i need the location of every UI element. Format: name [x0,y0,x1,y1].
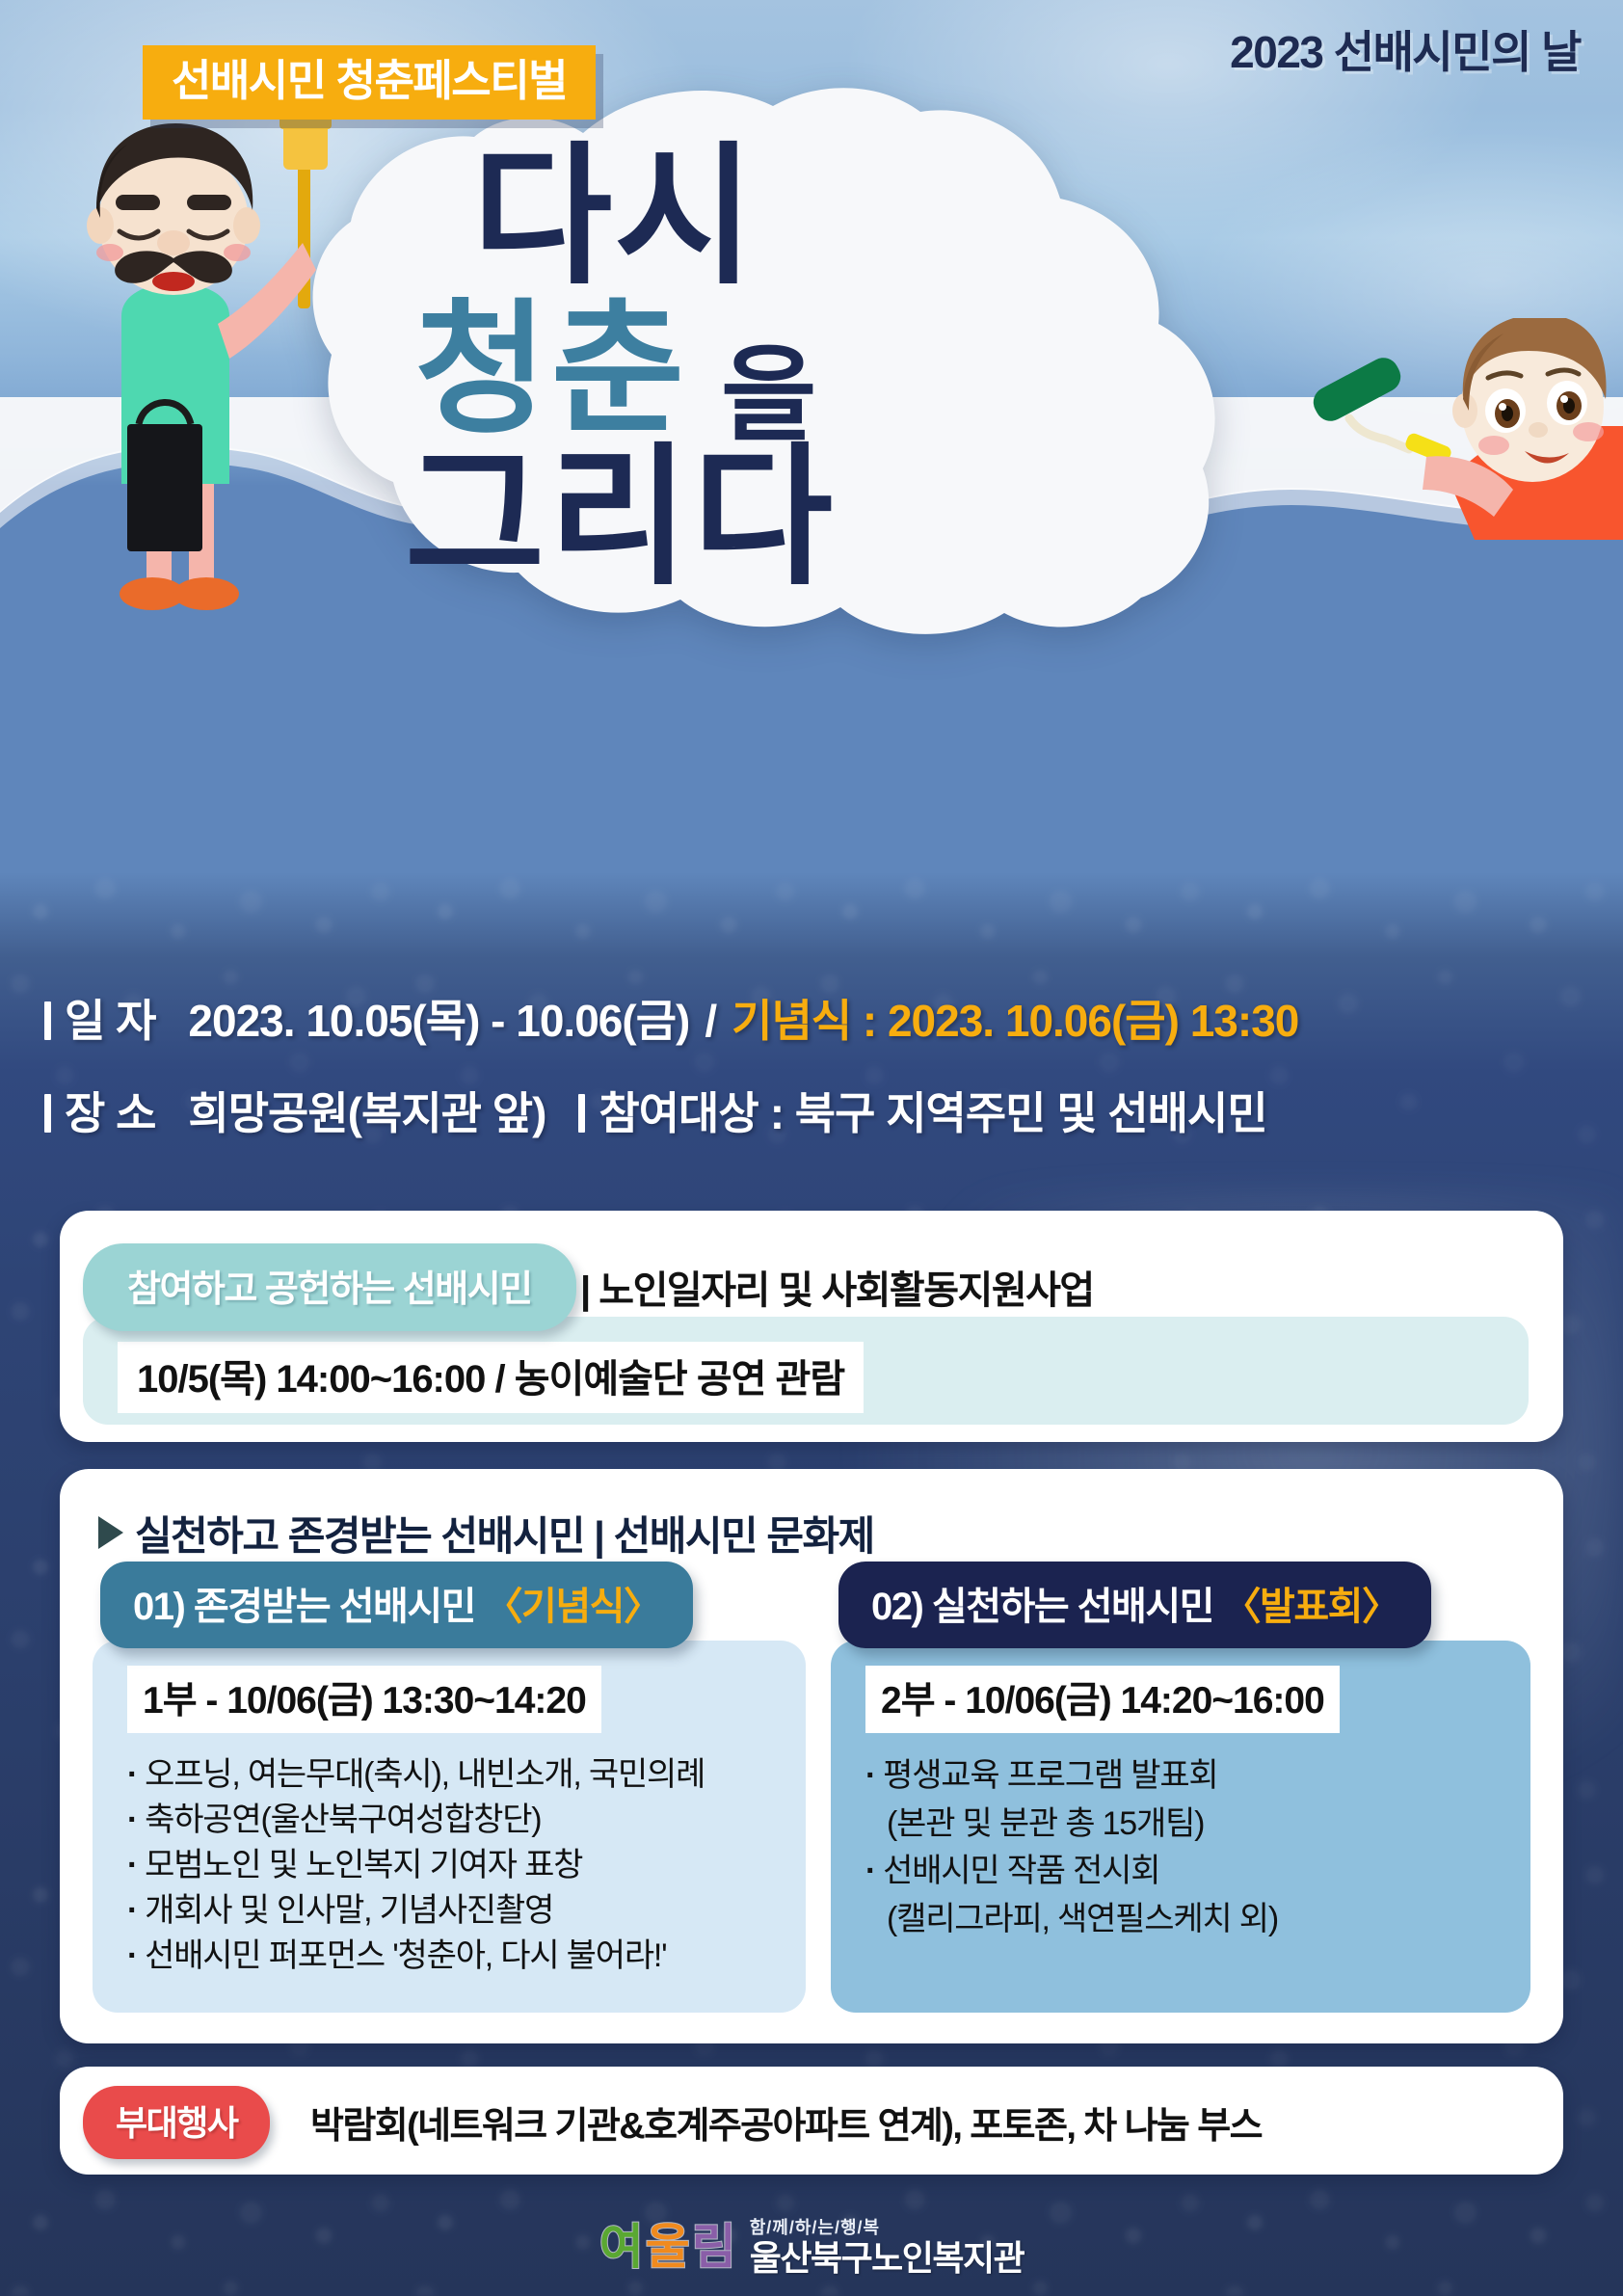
place-value: 희망공원(복지관 앞) [188,1088,545,1138]
festival-column-2-pill: 02) 실천하는 선배시민 〈발표회〉 [838,1562,1431,1648]
festival-column-2-time: 2부 - 10/06(금) 14:20~16:00 [865,1666,1340,1733]
footer-tagline: 함/께/하/는/행/복 [750,2219,1024,2236]
festival-tag: 선배시민 청춘페스티벌 [143,45,596,120]
side-event-pill-label: 부대행사 [116,2103,237,2143]
list-item: 모범노인 및 노인복지 기여자 표창 [127,1843,786,1888]
bar-icon [578,1094,585,1133]
festival-column-2-list: 평생교육 프로그램 발표회 (본관 및 분관 총 15개팀) 선배시민 작품 전… [865,1752,1511,1944]
side-event-card: 부대행사 박람회(네트워크 기관&호계주공아파트 연계), 포토존, 차 나눔 … [60,2067,1563,2175]
festival-column-1-time: 1부 - 10/06(금) 13:30~14:20 [127,1666,601,1733]
festival-heading: 실천하고 존경받는 선배시민 | 선배시민 문화제 [98,1504,874,1562]
contribution-subtitle: | 노인일자리 및 사회활동지원사업 [580,1259,1094,1315]
date-label: 일 자 [65,996,155,1046]
bar-icon [44,1001,51,1040]
footer-logo-text: 함/께/하/는/행/복 울산북구노인복지관 [750,2219,1024,2276]
festival-column-1-pill: 01) 존경받는 선배시민 〈기념식〉 [100,1562,693,1648]
contribution-schedule-text: 10/5(목) 14:00~16:00 / 농이예술단 공연 관람 [118,1342,864,1413]
list-item: 선배시민 퍼포먼스 '청춘아, 다시 불어라!' [127,1934,786,1979]
yeoullim-logo-mark: 여 울 림 [599,2223,736,2271]
title-particle-eul: 을 [721,343,816,447]
contribution-pill-label: 참여하고 공헌하는 선배시민 [127,1269,532,1310]
festival-heading-label: 실천하고 존경받는 선배시민 | 선배시민 문화제 [135,1513,874,1559]
festival-column-1-pill-main: 01) 존경받는 선배시민 [133,1586,485,1628]
festival-column-1: 01) 존경받는 선배시민 〈기념식〉 1부 - 10/06(금) 13:30~… [93,1641,806,2013]
festival-column-1-pill-accent: 〈기념식〉 [485,1586,661,1628]
info-line-place: 장 소희망공원(복지관 앞)참여대상: 북구 지역주민 및 선배시민 [44,1091,1586,1135]
contribution-pill: 참여하고 공헌하는 선배시민 [83,1243,576,1331]
list-item: 오프닝, 여는무대(축시), 내빈소개, 국민의례 [127,1752,786,1798]
festival-column-2-pill-accent: 〈발표회〉 [1223,1586,1399,1628]
triangle-icon [98,1516,123,1549]
date-value: 2023. 10.05(목) - 10.06(금) [188,996,689,1046]
title-line-cheongchun: 청춘 [414,297,688,441]
list-item: 축하공연(울산북구여성합창단) [127,1798,786,1843]
list-item: 선배시민 작품 전시회 [865,1848,1511,1896]
contribution-schedule-band: 10/5(목) 14:00~16:00 / 농이예술단 공연 관람 [83,1317,1529,1425]
festival-tag-label: 선배시민 청춘페스티벌 [172,59,567,102]
title-line-geurida: 그리다 [405,441,837,594]
festival-column-1-list: 오프닝, 여는무대(축시), 내빈소개, 국민의례 축하공연(울산북구여성합창단… [127,1752,786,1979]
footer-logo: 여 울 림 함/께/하/는/행/복 울산북구노인복지관 [0,2203,1623,2290]
character-elderly-man [64,106,382,617]
target-value: : 북구 지역주민 및 선배시민 [770,1088,1267,1138]
bar-icon [44,1094,51,1133]
side-event-text: 박람회(네트워크 기관&호계주공아파트 연계), 포토존, 차 나눔 부스 [310,2096,1262,2149]
logo-syllable-3: 림 [692,2223,736,2271]
poster-canvas: 선배시민 청춘페스티벌 2023 선배시민의 날 [0,0,1623,2296]
target-label: 참여대상 [599,1088,758,1138]
footer-org-name: 울산북구노인복지관 [750,2241,1024,2276]
logo-syllable-1: 여 [599,2223,644,2271]
character-boy [1305,318,1623,607]
list-item-continuation: (본관 및 분관 총 15개팀) [865,1801,1511,1849]
place-label: 장 소 [65,1088,155,1138]
title-line-dasi: 다시 [472,141,757,293]
contribution-card: 10/5(목) 14:00~16:00 / 농이예술단 공연 관람 참여하고 공… [60,1211,1563,1442]
date-separator: / [705,996,716,1046]
logo-syllable-2: 울 [646,2223,690,2271]
main-title: 다시 청춘 을 그리다 [414,114,1243,625]
event-info-block: 일 자2023. 10.05(목) - 10.06(금)/기념식 : 2023.… [44,999,1586,1135]
side-event-pill: 부대행사 [83,2086,270,2159]
day-tag-label: 2023 선배시민의 날 [1230,17,1581,81]
info-line-date: 일 자2023. 10.05(목) - 10.06(금)/기념식 : 2023.… [44,999,1586,1043]
festival-column-2-pill-main: 02) 실천하는 선배시민 [871,1586,1223,1628]
festival-column-2: 02) 실천하는 선배시민 〈발표회〉 2부 - 10/06(금) 14:20~… [831,1641,1530,2013]
ceremony-value: 기념식 : 2023. 10.06(금) 13:30 [732,996,1298,1046]
list-item-continuation: (캘리그라피, 색연필스케치 외) [865,1896,1511,1944]
list-item: 평생교육 프로그램 발표회 [865,1752,1511,1801]
list-item: 개회사 및 인사말, 기념사진촬영 [127,1888,786,1934]
festival-card: 실천하고 존경받는 선배시민 | 선배시민 문화제 01) 존경받는 선배시민 … [60,1469,1563,2043]
